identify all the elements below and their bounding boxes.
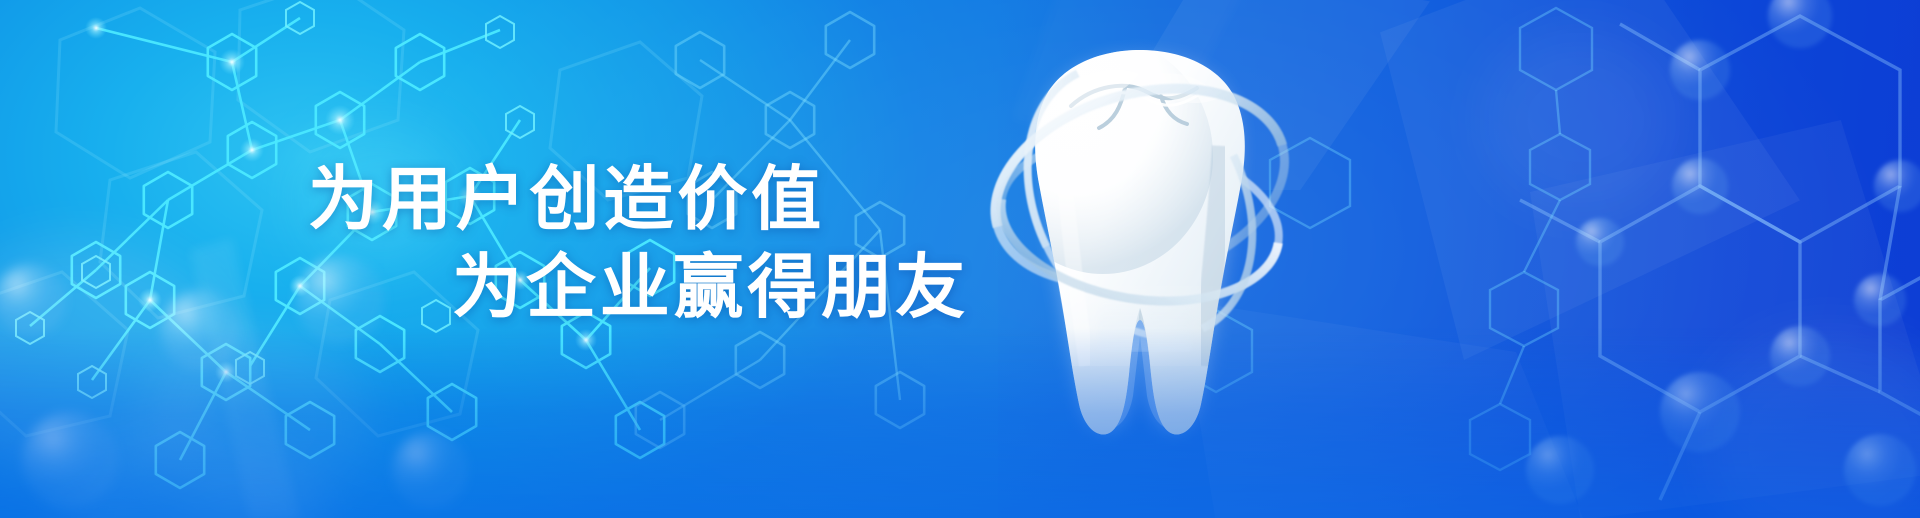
glow-blob-6: [1480, 30, 1680, 210]
hero-banner: 为用户创造价值 为企业赢得朋友: [0, 0, 1920, 518]
background-bottom-fade: [0, 328, 1920, 518]
headline-line-2: 为企业赢得朋友: [452, 231, 969, 332]
headline-line-1: 为用户创造价值: [308, 143, 825, 244]
